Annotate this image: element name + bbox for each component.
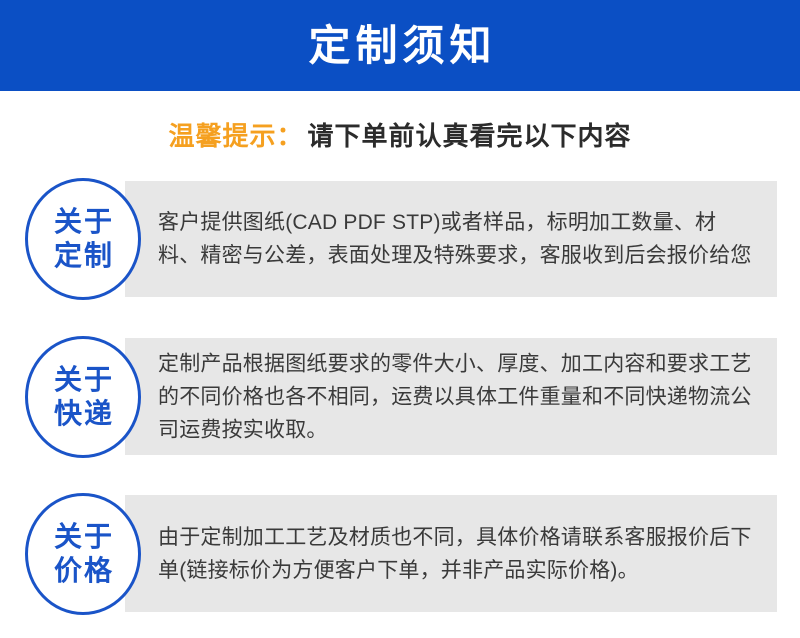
badge-about-customization: 关于 定制	[25, 178, 141, 300]
notice-body-text: 由于定制加工工艺及材质也不同，具体价格请联系客服报价后下单(链接标价为方便客户下…	[158, 521, 758, 587]
notice-body-text: 定制产品根据图纸要求的零件大小、厚度、加工内容和要求工艺的不同价格也各不相同，运…	[158, 347, 758, 446]
notice-section-shipping: 定制产品根据图纸要求的零件大小、厚度、加工内容和要求工艺的不同价格也各不相同，运…	[0, 338, 800, 455]
notice-section-pricing: 由于定制加工工艺及材质也不同，具体价格请联系客服报价后下单(链接标价为方便客户下…	[0, 495, 800, 612]
notice-panel: 客户提供图纸(CAD PDF STP)或者样品，标明加工数量、材料、精密与公差，…	[125, 181, 777, 297]
warm-tip-label: 温馨提示：	[168, 116, 303, 153]
notice-panel: 定制产品根据图纸要求的零件大小、厚度、加工内容和要求工艺的不同价格也各不相同，运…	[125, 338, 777, 455]
badge-label-line1: 关于	[52, 363, 114, 397]
header-banner: 定制须知	[0, 0, 800, 91]
badge-label-line2: 定制	[52, 239, 114, 273]
notice-panel: 由于定制加工工艺及材质也不同，具体价格请联系客服报价后下单(链接标价为方便客户下…	[125, 495, 777, 612]
page-title: 定制须知	[303, 25, 496, 67]
warm-tip-text: 请下单前认真看完以下内容	[308, 116, 632, 153]
badge-about-pricing: 关于 价格	[25, 493, 141, 615]
notice-body-text: 客户提供图纸(CAD PDF STP)或者样品，标明加工数量、材料、精密与公差，…	[158, 206, 758, 272]
badge-label-line1: 关于	[52, 520, 114, 554]
badge-label-line2: 价格	[52, 554, 114, 588]
custom-order-notice-page: 定制须知 温馨提示： 请下单前认真看完以下内容 客户提供图纸(CAD PDF S…	[0, 0, 800, 638]
badge-label-line1: 关于	[52, 205, 114, 239]
warm-tip-line: 温馨提示： 请下单前认真看完以下内容	[0, 112, 800, 156]
notice-section-customization: 客户提供图纸(CAD PDF STP)或者样品，标明加工数量、材料、精密与公差，…	[0, 181, 800, 297]
badge-about-shipping: 关于 快递	[25, 336, 141, 458]
badge-label-line2: 快递	[52, 397, 114, 431]
